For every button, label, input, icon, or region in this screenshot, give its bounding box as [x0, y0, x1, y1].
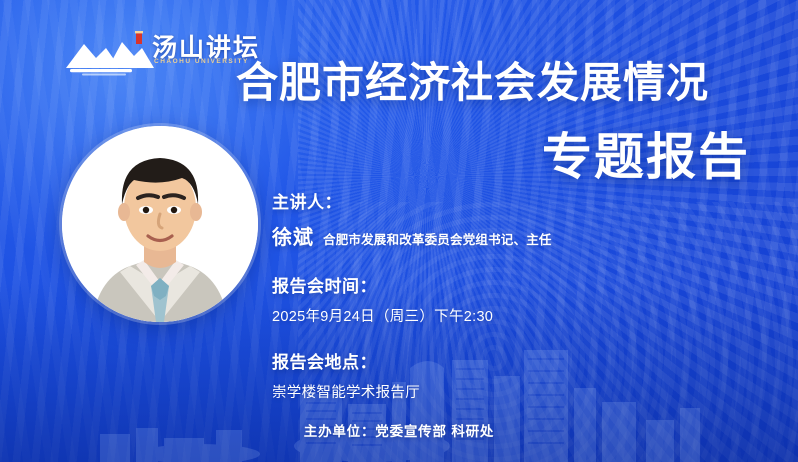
speaker-label: 主讲人： — [272, 188, 672, 213]
speaker-row: 徐斌 合肥市发展和改革委员会党组书记、主任 — [272, 221, 672, 250]
speaker-name: 徐斌 — [272, 221, 314, 250]
place-value: 崇学楼智能学术报告厅 — [272, 381, 672, 402]
place-label: 报告会地点： — [272, 348, 672, 373]
time-value: 2025年9月24日（周三）下午2:30 — [272, 305, 672, 326]
speaker-portrait-avatar — [62, 126, 258, 322]
event-details: 主讲人： 徐斌 合肥市发展和改革委员会党组书记、主任 报告会时间： 2025年9… — [272, 188, 672, 402]
organizer-line: 主办单位：党委宣传部 科研处 — [0, 420, 798, 440]
poster-canvas: 汤山讲坛 CHAOHU UNIVERSITY — [0, 0, 798, 462]
spacer-after-time — [272, 326, 672, 348]
logo-subtitle: CHAOHU UNIVERSITY — [154, 58, 249, 65]
page-title-line1: 合肥市经济社会发展情况 — [236, 62, 709, 104]
page-title-line2: 专题报告 — [542, 132, 750, 182]
time-label: 报告会时间： — [272, 272, 672, 297]
mountain-logo-icon — [62, 28, 158, 76]
brand-logo: 汤山讲坛 CHAOHU UNIVERSITY — [62, 24, 242, 80]
speaker-portrait — [62, 126, 258, 322]
spacer-after-speaker — [272, 250, 672, 272]
speaker-organization: 合肥市发展和改革委员会党组书记、主任 — [323, 229, 552, 248]
